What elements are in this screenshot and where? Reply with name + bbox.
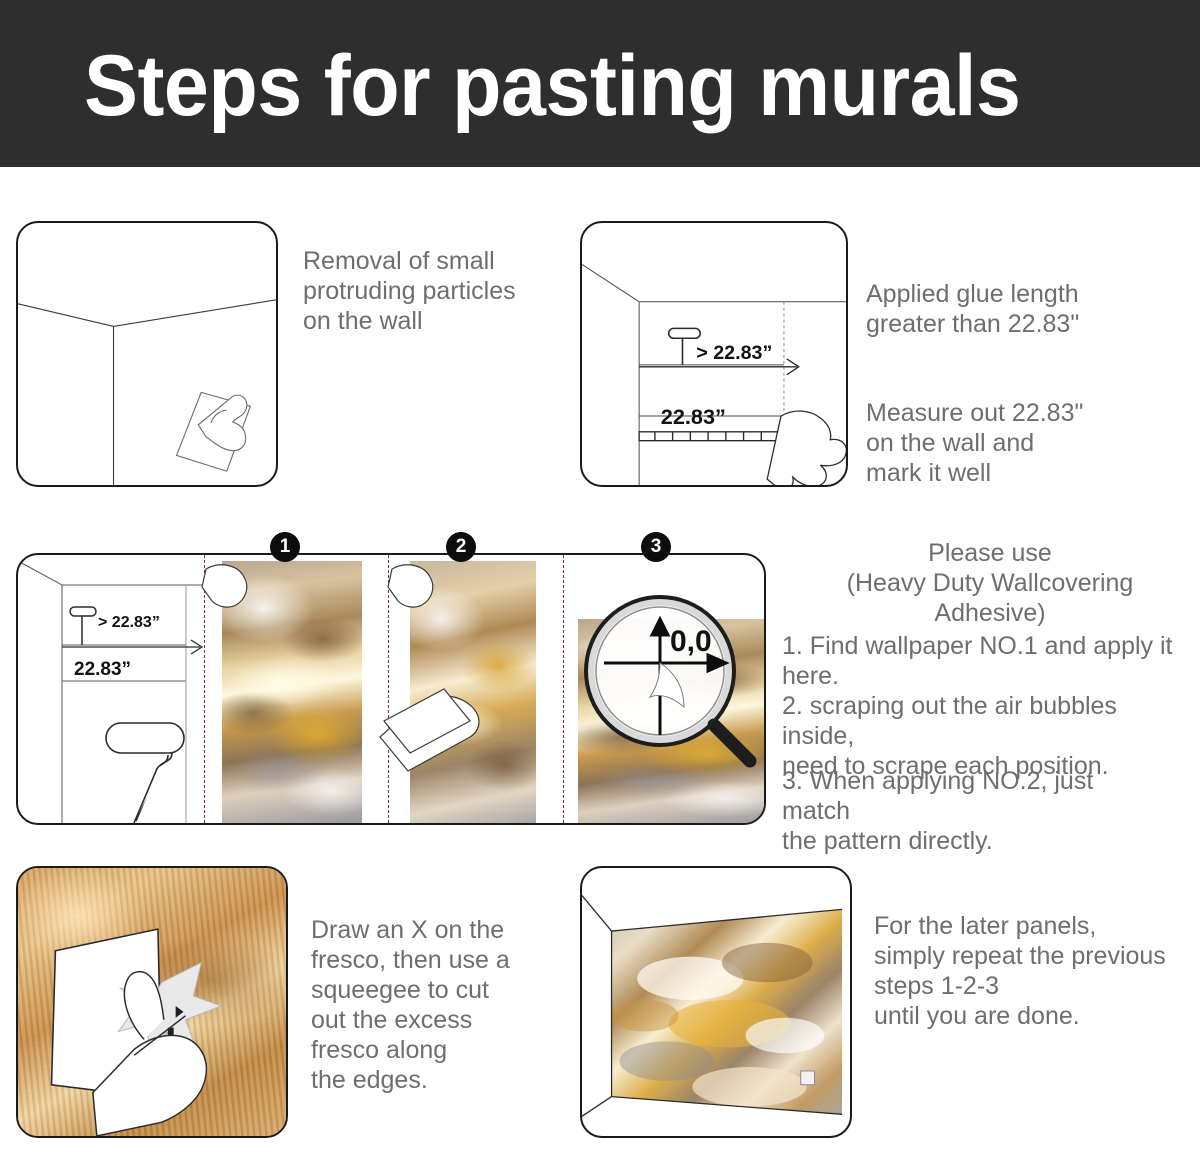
wall-measure-label: 22.83” <box>74 659 131 680</box>
scraper-icon <box>177 392 251 471</box>
page-title: Steps for pasting murals <box>84 36 1021 136</box>
caption-step-3: 3. When applying NO.2, just match the pa… <box>782 766 1162 856</box>
outlet-icon <box>801 1071 815 1085</box>
caption-measure-mark: Measure out 22.83" on the wall and mark … <box>866 398 1196 488</box>
caption-later-panels: For the later panels, simply repeat the … <box>874 911 1200 1031</box>
panel-glue-measure: > 22.83” 22.83” <box>580 221 848 487</box>
caption-step-1: 1. Find wallpaper NO.1 and apply it here… <box>782 631 1200 691</box>
panel-apply-steps: > 22.83” 22.83” 0,0 <box>16 553 766 825</box>
caption-draw-x: Draw an X on the fresco, then use a sque… <box>311 915 581 1095</box>
origin-label: 0,0 <box>670 625 712 658</box>
panel-repeat-steps <box>580 866 852 1138</box>
paint-roller-small-icon <box>70 607 96 645</box>
step-badge-2: 2 <box>446 532 476 562</box>
finished-room-illustration <box>582 868 850 1136</box>
caption-please-use: Please use (Heavy Duty Wallcovering Adhe… <box>790 538 1190 628</box>
caption-glue-length: Applied glue length greater than 22.83" <box>866 279 1196 339</box>
cut-excess-illustration <box>18 868 286 1136</box>
glue-measure-illustration: > 22.83” 22.83” <box>582 223 846 485</box>
wall-glue-length-label: > 22.83” <box>98 614 160 631</box>
caption-remove-particles: Removal of small protruding particles on… <box>303 246 573 336</box>
step-badge-3: 3 <box>641 532 671 562</box>
measure-length-label: 22.83” <box>661 404 726 429</box>
panel-wall-corner <box>16 221 278 487</box>
wall-corner-illustration <box>18 223 276 485</box>
panel-cut-excess <box>16 866 288 1138</box>
hand-icon <box>767 411 846 485</box>
tape-measure-icon <box>639 432 785 441</box>
step-badge-1: 1 <box>270 532 300 562</box>
glue-length-label: > 22.83” <box>696 342 772 364</box>
magnifier-icon: 0,0 <box>574 585 766 785</box>
hand-icon <box>388 565 433 607</box>
hand-icon <box>202 565 247 607</box>
